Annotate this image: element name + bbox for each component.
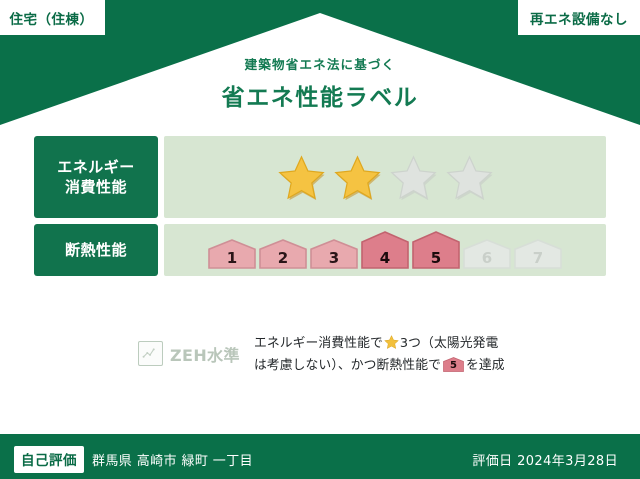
insulation-grade-7: 7 (514, 239, 562, 269)
evaluation-date: 評価日 2024年3月28日 (472, 450, 618, 469)
insulation-grade-value: 1 (208, 251, 256, 266)
insulation-grade-1: 1 (208, 239, 256, 269)
insulation-grade-scale: 1234567 (208, 231, 562, 269)
property-address: 群馬県 高崎市 緑町 一丁目 (92, 450, 253, 469)
achievement-note-line2: は考慮しない）、かつ断熱性能で5を達成 (254, 355, 606, 377)
row-insulation-label: 断熱性能 (34, 224, 158, 276)
row-insulation-label-line1: 断熱性能 (65, 240, 127, 260)
zeh-house-icon (138, 341, 163, 366)
insulation-grade-value: 6 (463, 251, 511, 266)
insulation-grade-6: 6 (463, 239, 511, 269)
achievement-note-line1: エネルギー消費性能で3つ（太陽光発電 (254, 333, 606, 355)
performance-rows: エネルギー 消費性能 断熱性能 1234567 (34, 136, 606, 276)
star-icon-empty (390, 155, 437, 200)
row-insulation: 断熱性能 1234567 (34, 224, 606, 276)
note-line1-prefix: エネルギー消費性能で (254, 336, 383, 351)
renewable-energy-tag: 再エネ設備なし (518, 0, 640, 35)
insulation-grade-value: 7 (514, 251, 562, 266)
row-energy-body (164, 136, 606, 218)
energy-performance-label: 住宅（住棟） 再エネ設備なし エンドスケープ 建築物省エネ法に基づく 省エネ性能… (0, 0, 640, 479)
achievement-note: エネルギー消費性能で3つ（太陽光発電 は考慮しない）、かつ断熱性能で5を達成 (254, 333, 606, 378)
title-main: 省エネ性能ラベル (0, 78, 640, 112)
star-icon (384, 335, 399, 349)
star-icon-filled (278, 155, 325, 200)
note-line1-suffix: 3つ（太陽光発電 (400, 336, 499, 351)
insulation-grade-4: 4 (361, 231, 409, 269)
inline-grade-value: 5 (443, 357, 464, 372)
insulation-grade-2: 2 (259, 239, 307, 269)
page-title: 建築物省エネ法に基づく 省エネ性能ラベル (0, 54, 640, 112)
footer: 自己評価 群馬県 高崎市 緑町 一丁目 評価日 2024年3月28日 (0, 439, 640, 479)
insulation-grade-3: 3 (310, 239, 358, 269)
title-subtitle: 建築物省エネ法に基づく (0, 54, 640, 73)
row-energy-label-line1: エネルギー (57, 157, 135, 177)
star-icon-empty (446, 155, 493, 200)
self-evaluation-badge: 自己評価 (14, 446, 84, 473)
row-energy-consumption: エネルギー 消費性能 (34, 136, 606, 218)
star-rating (278, 155, 493, 200)
insulation-grade-value: 2 (259, 251, 307, 266)
building-type-tag: 住宅（住棟） (0, 0, 105, 35)
zeh-standard: ZEH水準 (138, 341, 240, 366)
row-energy-label-line2: 消費性能 (65, 177, 127, 197)
note-line2-prefix: は考慮しない）、かつ断熱性能で (254, 358, 441, 373)
insulation-grade-5: 5 (412, 231, 460, 269)
row-energy-label: エネルギー 消費性能 (34, 136, 158, 218)
zeh-note-block: ZEH水準 エネルギー消費性能で3つ（太陽光発電 は考慮しない）、かつ断熱性能で… (34, 333, 606, 378)
inline-grade-badge: 5 (443, 357, 464, 372)
insulation-grade-value: 3 (310, 251, 358, 266)
insulation-grade-value: 4 (361, 251, 409, 266)
insulation-grade-value: 5 (412, 251, 460, 266)
row-insulation-body: 1234567 (164, 224, 606, 276)
note-line2-suffix: を達成 (466, 358, 505, 373)
star-icon-filled (334, 155, 381, 200)
zeh-label: ZEH水準 (170, 342, 240, 366)
